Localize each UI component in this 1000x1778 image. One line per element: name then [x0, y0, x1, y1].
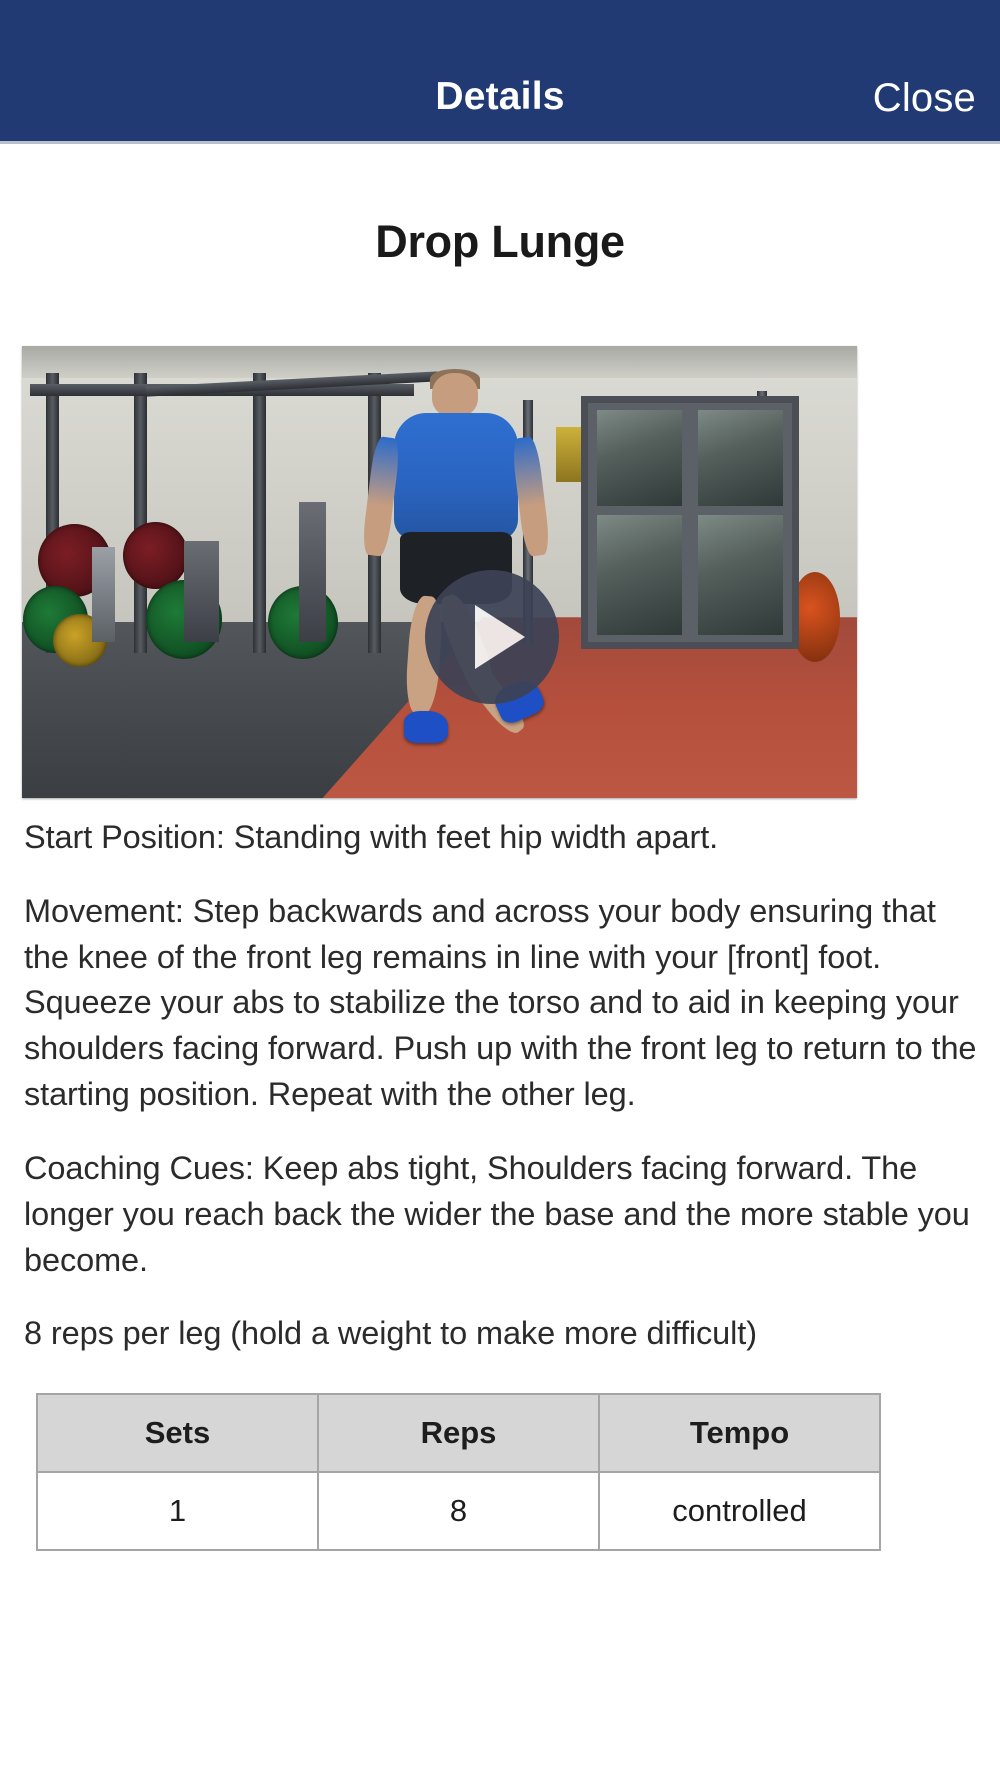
cell-reps: 8: [318, 1472, 599, 1550]
cell-sets: 1: [37, 1472, 318, 1550]
exercise-video-player[interactable]: [22, 346, 857, 798]
video-thumbnail: [22, 346, 857, 798]
close-button[interactable]: Close: [873, 76, 976, 121]
athlete-figure: [356, 373, 556, 771]
table-header-row: Sets Reps Tempo: [37, 1394, 880, 1472]
exercise-name: Drop Lunge: [0, 216, 1000, 268]
start-position-paragraph: Start Position: Standing with feet hip w…: [24, 815, 978, 861]
play-button[interactable]: [425, 570, 559, 704]
navigation-bar: Details Close: [0, 0, 1000, 141]
table-row: 1 8 controlled: [37, 1472, 880, 1550]
coaching-cues-paragraph: Coaching Cues: Keep abs tight, Shoulders…: [24, 1146, 978, 1283]
page-title: Details: [435, 75, 564, 119]
column-header-reps: Reps: [318, 1394, 599, 1472]
exercise-description: Start Position: Standing with feet hip w…: [0, 815, 1000, 1357]
column-header-sets: Sets: [37, 1394, 318, 1472]
navbar-divider: [0, 141, 1000, 144]
sets-reps-table: Sets Reps Tempo 1 8 controlled: [36, 1393, 881, 1551]
exercise-details-screen: Details Close Drop Lunge: [0, 0, 1000, 1778]
play-triangle-icon: [475, 605, 525, 669]
cell-tempo: controlled: [599, 1472, 880, 1550]
reps-note: 8 reps per leg (hold a weight to make mo…: [24, 1311, 978, 1357]
movement-paragraph: Movement: Step backwards and across your…: [24, 889, 978, 1118]
cable-attachment: [556, 427, 584, 481]
column-header-tempo: Tempo: [599, 1394, 880, 1472]
glass-door: [581, 396, 798, 649]
